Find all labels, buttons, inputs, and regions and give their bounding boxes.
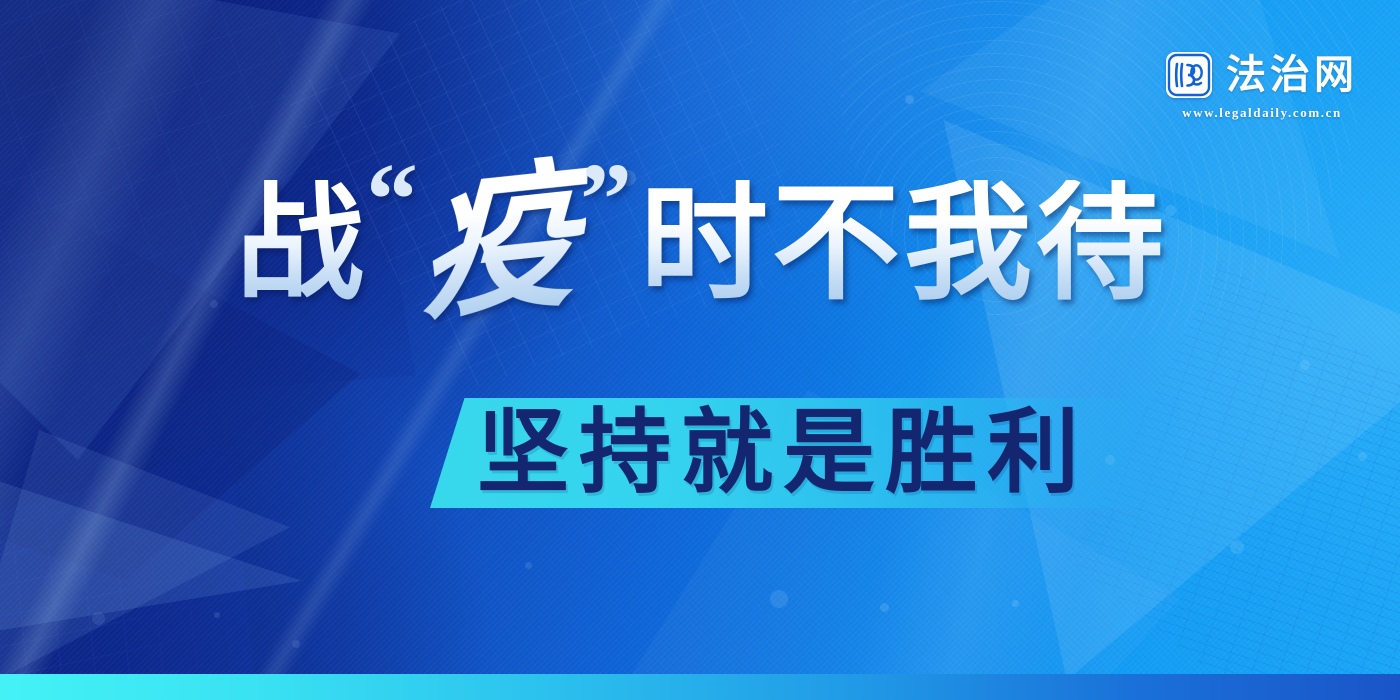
background-light-ray-1 xyxy=(0,0,301,700)
subtitle-char-4: 是 xyxy=(778,407,880,499)
subtitle-char-5: 胜 xyxy=(880,407,982,499)
background-light-ray-3 xyxy=(160,0,786,700)
headline-quote-close: ” xyxy=(580,148,632,252)
bottom-accent-bar xyxy=(0,674,1400,700)
headline-char-4: 不 xyxy=(770,180,902,308)
headline-char-3: 时 xyxy=(638,180,770,308)
legaldaily-seal-icon xyxy=(1166,52,1212,98)
background-bokeh-dot xyxy=(1230,540,1244,554)
background-bokeh-dot xyxy=(905,95,914,104)
subtitle-char-3: 就 xyxy=(676,407,778,499)
subtitle-text: 坚 持 就 是 胜 利 xyxy=(472,398,1084,508)
headline-inner: 战 “ 疫 ” 时 不 我 待 xyxy=(234,148,1166,308)
headline-char-5: 我 xyxy=(902,180,1034,308)
background-bokeh-dot xyxy=(880,603,889,612)
legaldaily-logo[interactable]: 法治网 www.legaldaily.com.cn xyxy=(1166,52,1358,121)
background-bokeh-dot xyxy=(1300,360,1310,370)
background-building-grid-lower-left xyxy=(0,446,262,700)
background-bokeh-dot xyxy=(292,640,300,648)
logo-url: www.legaldaily.com.cn xyxy=(1166,105,1358,121)
background-polygon-chevron-left xyxy=(0,330,380,660)
headline-char-6: 待 xyxy=(1034,180,1166,308)
subtitle-char-6: 利 xyxy=(982,407,1084,499)
logo-row: 法治网 xyxy=(1166,52,1358,98)
background-bokeh-dot xyxy=(770,590,788,608)
background-bokeh-dot xyxy=(1012,600,1019,607)
background-bokeh-dot xyxy=(214,612,220,618)
subtitle-char-1: 坚 xyxy=(472,407,574,499)
subtitle-char-2: 持 xyxy=(574,407,676,499)
poster-canvas: 法治网 www.legaldaily.com.cn 战 “ 疫 ” 时 不 我 … xyxy=(0,0,1400,700)
headline-char-emphasis: 疫 xyxy=(412,152,589,331)
background-bokeh-dot xyxy=(1358,452,1367,461)
background-polygon-lower-left xyxy=(0,430,290,700)
background-bokeh-dot xyxy=(525,562,532,569)
background-bokeh-dot xyxy=(92,612,105,625)
headline-quote-open: “ xyxy=(366,148,418,252)
background-light-ray-2 xyxy=(0,0,511,700)
headline-char-1: 战 xyxy=(234,180,366,308)
headline: 战 “ 疫 ” 时 不 我 待 xyxy=(0,148,1400,308)
logo-wordmark: 法治网 xyxy=(1226,55,1358,95)
